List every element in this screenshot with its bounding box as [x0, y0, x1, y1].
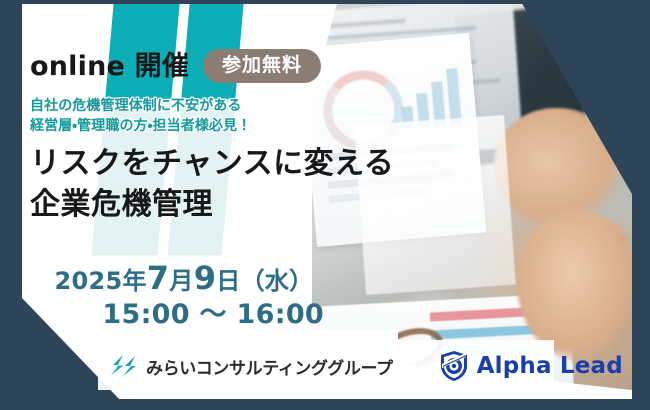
lead-text: 自社の危機管理体制に不安がある 経営層・管理職の方・担当者様必見！: [30, 96, 251, 137]
event-weekday: （水）: [241, 267, 314, 295]
free-participation-badge: 参加無料: [203, 49, 321, 83]
navy-frame-top: [0, 0, 650, 4]
event-time: 15:00 〜 16:00: [34, 298, 334, 332]
online-format-label: online 開催: [30, 53, 189, 80]
logo-mirai-consulting-group: みらいコンサルティンググループ: [110, 354, 393, 379]
logo-bar: みらいコンサルティンググループ Alpha Lead: [110, 350, 623, 382]
headline-line-1: リスクをチャンスに変える: [30, 143, 394, 184]
event-month-unit: 月: [169, 267, 193, 295]
format-row: online 開催 参加無料: [30, 49, 321, 83]
navy-frame-bottom: [0, 399, 650, 410]
shield-icon: [439, 350, 469, 382]
logo-mirai-label: みらいコンサルティンググループ: [146, 354, 393, 379]
event-day-number: 9: [194, 259, 217, 297]
logo-alpha-lead-label: Alpha Lead: [477, 353, 623, 379]
event-day-unit: 日: [216, 267, 240, 295]
event-year: 2025年: [55, 267, 147, 295]
logo-alpha-lead: Alpha Lead: [439, 350, 623, 382]
page-title: リスクをチャンスに変える 企業危機管理: [30, 143, 394, 226]
lead-line-1: 自社の危機管理体制に不安がある: [30, 96, 251, 116]
event-datetime: 2025年7月9日（水） 15:00 〜 16:00: [34, 258, 334, 332]
webinar-banner: online 開催 参加無料 自社の危機管理体制に不安がある 経営層・管理職の方…: [0, 0, 650, 410]
lead-line-2: 経営層・管理職の方・担当者様必見！: [30, 116, 251, 136]
headline-line-2: 企業危機管理: [30, 184, 394, 225]
event-month-number: 7: [147, 259, 170, 297]
swoosh-icon: [110, 354, 138, 378]
event-date: 2025年7月9日（水）: [34, 258, 334, 298]
